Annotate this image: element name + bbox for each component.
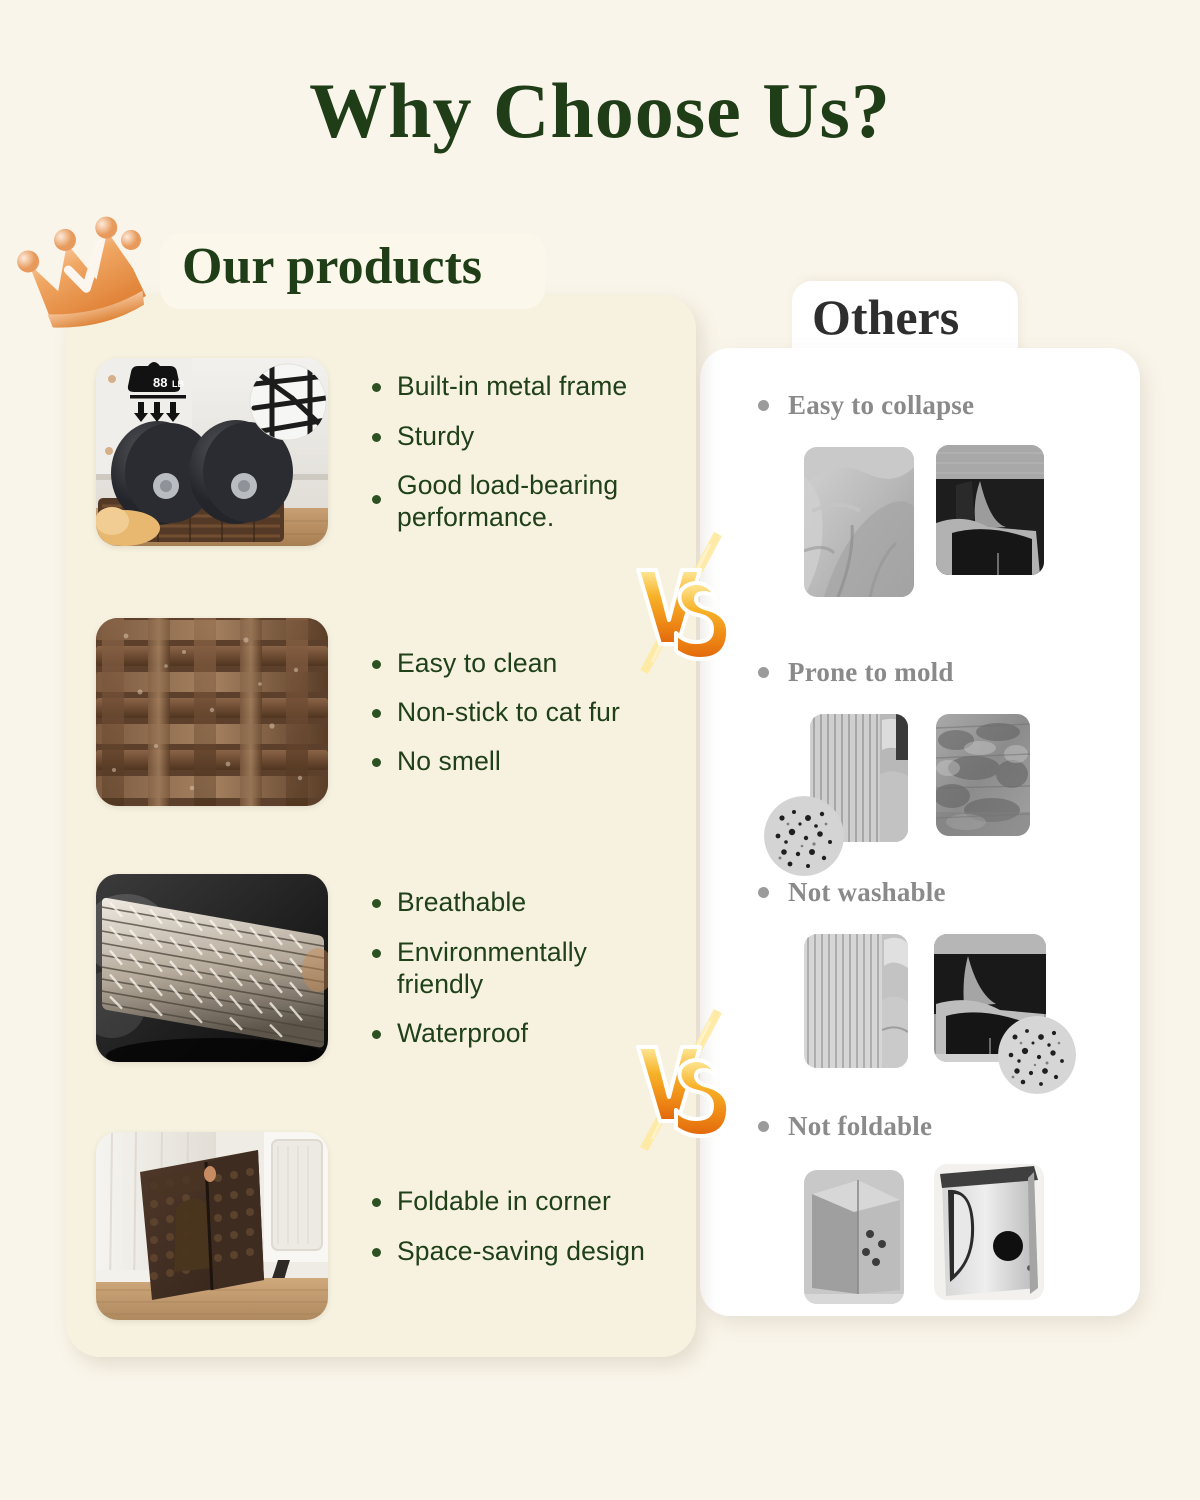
product-row-1: 88 LB	[96, 358, 697, 546]
others-section-4-images	[758, 1164, 1088, 1354]
list-item: Environmentally friendly	[372, 936, 652, 1001]
product-row-2: Easy to clean Non-stick to cat fur No sm…	[96, 618, 620, 806]
bullet-dot	[372, 1030, 381, 1039]
others-section-1: Easy to collapse	[758, 390, 1088, 633]
wet-rattan-weave-texture-photo	[96, 618, 328, 806]
list-item: Breathable	[372, 886, 652, 918]
others-section-3-title: Not washable	[758, 877, 1088, 908]
bullet-dot	[372, 1248, 381, 1257]
crown-check-icon	[8, 205, 170, 335]
backlit-woven-panel-with-smoke-photo	[96, 874, 328, 1062]
others-section-3-images	[758, 930, 1088, 1120]
bullet-dot	[372, 660, 381, 669]
svg-text:88: 88	[153, 375, 167, 390]
bullet-dot	[758, 887, 769, 898]
others-section-1-title: Easy to collapse	[758, 390, 1088, 421]
rigid-metal-box-photo	[934, 1164, 1044, 1300]
list-item: Good load-bearing performance.	[372, 469, 697, 534]
bullet-dot	[372, 433, 381, 442]
others-section-2: Prone to mold	[758, 657, 1088, 900]
bullet-dot	[372, 758, 381, 767]
bullet-dot	[758, 667, 769, 678]
others-section-2-images	[758, 710, 1088, 900]
vs-badge-bottom	[632, 1005, 728, 1155]
list-item: Waterproof	[372, 1017, 652, 1049]
page-title: Why Choose Us?	[0, 66, 1200, 156]
others-section-2-title: Prone to mold	[758, 657, 1088, 688]
list-item: No smell	[372, 745, 620, 777]
product-row-2-bullets: Easy to clean Non-stick to cat fur No sm…	[372, 647, 620, 778]
mold-spots-circle-inset	[998, 1016, 1076, 1094]
product-row-4: Foldable in corner Space-saving design	[96, 1132, 645, 1320]
bullet-dot	[372, 949, 381, 958]
list-item: Non-stick to cat fur	[372, 696, 620, 728]
list-item: Easy to clean	[372, 647, 620, 679]
others-section-3: Not washable	[758, 877, 1088, 1120]
bullet-dot	[372, 709, 381, 718]
others-section-4-title: Not foldable	[758, 1111, 1088, 1142]
rigid-cube-box-photo	[804, 1170, 904, 1304]
list-item: Built-in metal frame	[372, 370, 697, 402]
weight-plates-on-rattan-box-photo: 88 LB	[96, 358, 328, 546]
others-section-4: Not foldable	[758, 1111, 1088, 1354]
crumpled-fabric-photo	[804, 447, 914, 597]
moldy-surface-photo	[936, 714, 1030, 836]
bullet-dot	[758, 400, 769, 411]
product-row-4-bullets: Foldable in corner Space-saving design	[372, 1185, 645, 1267]
list-item: Space-saving design	[372, 1235, 645, 1267]
bullet-dot	[372, 495, 381, 504]
product-row-1-bullets: Built-in metal frame Sturdy Good load-be…	[372, 370, 697, 533]
vs-badge-top	[632, 528, 728, 678]
product-row-3-bullets: Breathable Environmentally friendly Wate…	[372, 886, 652, 1049]
mold-spots-circle-inset	[764, 796, 844, 876]
collapsed-tent-box-photo	[936, 445, 1044, 575]
bullet-dot	[372, 899, 381, 908]
others-section-1-images	[758, 443, 1088, 633]
bullet-dot	[372, 383, 381, 392]
list-item: Sturdy	[372, 420, 697, 452]
product-row-3: Breathable Environmentally friendly Wate…	[96, 874, 652, 1062]
svg-text:LB: LB	[172, 379, 184, 389]
our-products-heading: Our products	[182, 237, 482, 296]
list-item: Foldable in corner	[372, 1185, 645, 1217]
striped-fabric-box-photo	[804, 934, 908, 1068]
bullet-dot	[758, 1121, 769, 1132]
others-heading: Others	[812, 288, 959, 346]
bullet-dot	[372, 1198, 381, 1207]
folded-rattan-litter-box-photo	[96, 1132, 328, 1320]
